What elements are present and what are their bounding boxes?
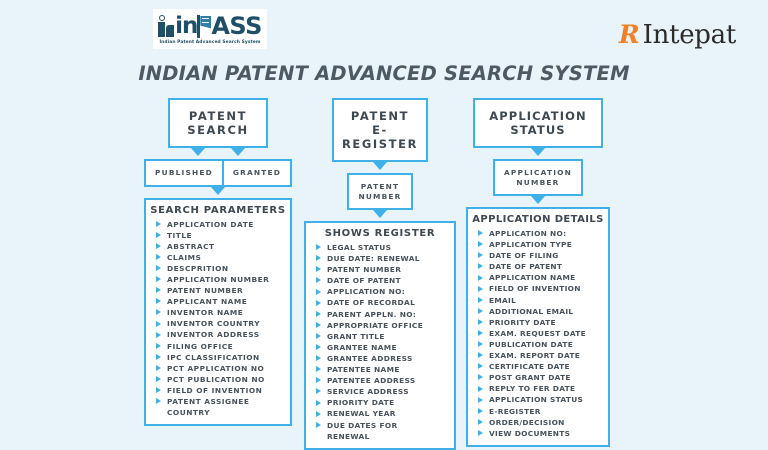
list-item[interactable]: ABSTRACT	[150, 241, 286, 252]
list-item[interactable]: E-REGISTER	[472, 406, 604, 417]
list-item-label: ABSTRACT	[167, 241, 215, 252]
triangle-bullet-icon	[156, 309, 161, 315]
list-item[interactable]: PRIORITY DATE	[472, 317, 604, 328]
list-item-label: ADDITIONAL EMAIL	[489, 306, 573, 317]
list-item[interactable]: RENEWAL YEAR	[310, 408, 450, 419]
list-item[interactable]: ORDER/DECISION	[472, 417, 604, 428]
list-item[interactable]: DESCPRITION	[150, 263, 286, 274]
list-item[interactable]: LEGAL STATUS	[310, 242, 450, 253]
triangle-bullet-icon	[316, 289, 321, 295]
list-item-label: PRIORITY DATE	[327, 397, 394, 408]
arrow-down-icon	[231, 148, 245, 156]
list-item[interactable]: IPC CLASSIFICATION	[150, 352, 286, 363]
list-item-label: FIELD OF INVENTION	[167, 385, 262, 396]
triangle-bullet-icon	[478, 419, 483, 425]
list-item[interactable]: SERVICE ADDRESS	[310, 386, 450, 397]
list-item-label: EXAM. REPORT DATE	[489, 350, 580, 361]
list-item[interactable]: REPLY TO FER DATE	[472, 383, 604, 394]
list-item[interactable]: DATE OF PATENT	[310, 275, 450, 286]
list-item-label: DATE OF PATENT	[327, 275, 401, 286]
list-item-label: FIELD OF INVENTION	[489, 283, 581, 294]
list-item[interactable]: EMAIL	[472, 295, 604, 306]
list-item-label: DUE DATES FOR RENEWAL	[327, 420, 398, 442]
panel-patent-search: SEARCH PARAMETERSAPPLICATION DATETITLEAB…	[144, 198, 292, 427]
list-item-label: DATE OF FILING	[489, 250, 559, 261]
arrow-row-application-status	[466, 148, 610, 156]
list-item[interactable]: DUE DATES FOR RENEWAL	[310, 420, 450, 442]
list-item-label: E-REGISTER	[489, 406, 541, 417]
list-item[interactable]: DATE OF RECORDAL	[310, 297, 450, 308]
triangle-bullet-icon	[316, 377, 321, 383]
inpass-tagline: Indian Patent Advanced Search System	[159, 40, 260, 45]
list-item-label: APPLICATION TYPE	[489, 239, 572, 250]
list-item-label: INVENTOR COUNTRY	[167, 318, 260, 329]
triangle-bullet-icon	[156, 321, 161, 327]
list-item-label: CERTIFICATE DATE	[489, 361, 570, 372]
list-item[interactable]: PATENT ASSIGNEE COUNTRY	[150, 396, 286, 418]
list-item-label: SERVICE ADDRESS	[327, 386, 409, 397]
list-item[interactable]: APPLICATION NO:	[472, 228, 604, 239]
list-item[interactable]: APPLICATION NO:	[310, 286, 450, 297]
list-item-label: DATE OF PATENT	[489, 261, 562, 272]
list-item[interactable]: FIELD OF INVENTION	[150, 385, 286, 396]
list-item[interactable]: INVENTOR COUNTRY	[150, 318, 286, 329]
triangle-bullet-icon	[316, 266, 321, 272]
list-item-label: INVENTOR NAME	[167, 307, 243, 318]
panel-patent-e-register: SHOWS REGISTERLEGAL STATUSDUE DATE: RENE…	[304, 221, 456, 450]
triangle-bullet-icon	[316, 366, 321, 372]
list-item-label: DUE DATE: RENEWAL	[327, 253, 420, 264]
mid-row-patent-search: PUBLISHEDGRANTED	[144, 159, 292, 187]
list-item[interactable]: DUE DATE: RENEWAL	[310, 253, 450, 264]
mid-box-published[interactable]: PUBLISHED	[144, 159, 223, 187]
triangle-bullet-icon	[156, 365, 161, 371]
arrow-down-icon	[211, 187, 225, 195]
triangle-bullet-icon	[478, 408, 483, 414]
inpass-wordmark: in ASS	[158, 14, 262, 38]
triangle-bullet-icon	[156, 254, 161, 260]
list-item-label: INVENTOR ADDRESS	[167, 329, 260, 340]
panel-list: LEGAL STATUSDUE DATE: RENEWALPATENT NUMB…	[310, 242, 450, 442]
mid-row-patent-e-register: PATENT NUMBER	[304, 173, 456, 210]
triangle-bullet-icon	[478, 341, 483, 347]
column-patent-search: PATENT SEARCHPUBLISHEDGRANTEDSEARCH PARA…	[144, 98, 292, 426]
list-item[interactable]: TITLE	[150, 230, 286, 241]
list-item-label: APPROPRIATE OFFICE	[327, 320, 423, 331]
list-item[interactable]: APPLICATION NAME	[472, 272, 604, 283]
triangle-bullet-icon	[478, 330, 483, 336]
triangle-bullet-icon	[316, 411, 321, 417]
inpass-logo: in ASS Indian Patent Advanced Search Sys…	[153, 9, 267, 49]
triangle-bullet-icon	[478, 397, 483, 403]
list-item-label: DESCPRITION	[167, 263, 229, 274]
intepat-logo-name: Intepat	[643, 22, 736, 48]
triangle-bullet-icon	[478, 263, 483, 269]
list-item[interactable]: APPLICANT NAME	[150, 296, 286, 307]
list-item-label: PATENT NUMBER	[167, 285, 243, 296]
arrow-down-icon	[373, 210, 387, 218]
list-item-label: DATE OF RECORDAL	[327, 297, 415, 308]
triangle-bullet-icon	[478, 230, 483, 236]
list-item-label: CLAIMS	[167, 252, 201, 263]
triangle-bullet-icon	[478, 252, 483, 258]
list-item[interactable]: APPLICATION TYPE	[472, 239, 604, 250]
panel-application-status: APPLICATION DETAILSAPPLICATION NO:APPLIC…	[466, 207, 610, 447]
list-item[interactable]: DATE OF FILING	[472, 250, 604, 261]
triangle-bullet-icon	[478, 386, 483, 392]
list-item-label: FILING OFFICE	[167, 341, 233, 352]
list-item-label: APPLICATION STATUS	[489, 394, 583, 405]
panel-title: SHOWS REGISTER	[310, 228, 450, 239]
triangle-bullet-icon	[156, 376, 161, 382]
list-item-label: PCT APPLICATION NO	[167, 363, 264, 374]
triangle-bullet-icon	[156, 243, 161, 249]
list-item-label: EMAIL	[489, 295, 516, 306]
triangle-bullet-icon	[478, 430, 483, 436]
list-item-label: PUBLICATION DATE	[489, 339, 573, 350]
triangle-bullet-icon	[156, 354, 161, 360]
triangle-bullet-icon	[316, 244, 321, 250]
list-item[interactable]: PATENT NUMBER	[310, 264, 450, 275]
list-item[interactable]: CLAIMS	[150, 252, 286, 263]
list-item[interactable]: POST GRANT DATE	[472, 372, 604, 383]
triangle-bullet-icon	[316, 422, 321, 428]
list-item-label: APPLICANT NAME	[167, 296, 247, 307]
arrow-down-icon	[373, 162, 387, 170]
list-item-label: GRANTEE NAME	[327, 342, 397, 353]
list-item-label: PATENTEE ADDRESS	[327, 375, 416, 386]
inpass-logo-ass: ASS	[211, 14, 262, 38]
list-item[interactable]: APPLICATION STATUS	[472, 394, 604, 405]
triangle-bullet-icon	[478, 275, 483, 281]
mid-box-application-number[interactable]: APPLICATION NUMBER	[493, 159, 583, 196]
page-header: in ASS Indian Patent Advanced Search Sys…	[0, 0, 768, 58]
list-item-label: GRANT TITLE	[327, 331, 385, 342]
list-item-label: APPLICATION NAME	[489, 272, 576, 283]
list-item[interactable]: PARENT APPLN. NO:	[310, 309, 450, 320]
list-item[interactable]: PATENTEE ADDRESS	[310, 375, 450, 386]
inpass-person-icon	[158, 15, 175, 37]
top-box-patent-e-register[interactable]: PATENT E-REGISTER	[332, 98, 428, 162]
triangle-bullet-icon	[156, 287, 161, 293]
column-patent-e-register: PATENT E-REGISTERPATENT NUMBERSHOWS REGI…	[304, 98, 456, 450]
list-item[interactable]: VIEW DOCUMENTS	[472, 428, 604, 439]
list-item[interactable]: FILING OFFICE	[150, 341, 286, 352]
top-box-patent-search[interactable]: PATENT SEARCH	[168, 98, 268, 148]
triangle-bullet-icon	[156, 221, 161, 227]
top-box-application-status[interactable]: APPLICATION STATUS	[473, 98, 603, 148]
intepat-logo: R Intepat	[619, 22, 736, 48]
arrow-down-icon	[191, 148, 205, 156]
list-item[interactable]: PCT APPLICATION NO	[150, 363, 286, 374]
list-item[interactable]: DATE OF PATENT	[472, 261, 604, 272]
list-item[interactable]: PRIORITY DATE	[310, 397, 450, 408]
list-item[interactable]: GRANTEE ADDRESS	[310, 353, 450, 364]
triangle-bullet-icon	[156, 332, 161, 338]
flag-icon	[197, 15, 211, 38]
list-item[interactable]: INVENTOR ADDRESS	[150, 329, 286, 340]
triangle-bullet-icon	[316, 255, 321, 261]
list-item[interactable]: EXAM. REPORT DATE	[472, 350, 604, 361]
triangle-bullet-icon	[316, 300, 321, 306]
triangle-bullet-icon	[478, 363, 483, 369]
triangle-bullet-icon	[478, 286, 483, 292]
triangle-bullet-icon	[478, 374, 483, 380]
list-item-label: VIEW DOCUMENTS	[489, 428, 570, 439]
triangle-bullet-icon	[156, 398, 161, 404]
list-item-label: APPLICATION NO:	[489, 228, 566, 239]
list-item-label: RENEWAL YEAR	[327, 408, 396, 419]
list-item-label: TITLE	[167, 230, 192, 241]
list-item-label: APPLICATION NUMBER	[167, 274, 269, 285]
list-item-label: EXAM. REQUEST DATE	[489, 328, 586, 339]
list-item-label: ORDER/DECISION	[489, 417, 565, 428]
column-application-status: APPLICATION STATUSAPPLICATION NUMBERAPPL…	[466, 98, 610, 447]
mid-box-granted[interactable]: GRANTED	[223, 159, 292, 187]
list-item-label: PATENT ASSIGNEE COUNTRY	[167, 396, 249, 418]
intepat-r-icon: R	[619, 22, 640, 47]
triangle-bullet-icon	[316, 344, 321, 350]
arrow-row-patent-e-register	[304, 162, 456, 170]
list-item[interactable]: APPROPRIATE OFFICE	[310, 320, 450, 331]
list-item-label: PCT PUBLICATION NO	[167, 374, 265, 385]
inpass-logo-in: in	[175, 15, 197, 38]
triangle-bullet-icon	[478, 352, 483, 358]
list-item-label: PATENTEE NAME	[327, 364, 400, 375]
triangle-bullet-icon	[156, 265, 161, 271]
list-item-label: PARENT APPLN. NO:	[327, 309, 416, 320]
list-item[interactable]: GRANT TITLE	[310, 331, 450, 342]
triangle-bullet-icon	[156, 343, 161, 349]
panel-list: APPLICATION DATETITLEABSTRACTCLAIMSDESCP…	[150, 219, 286, 419]
panel-title: APPLICATION DETAILS	[472, 214, 604, 225]
arrow-down-icon	[531, 196, 545, 204]
list-item[interactable]: FIELD OF INVENTION	[472, 283, 604, 294]
triangle-bullet-icon	[316, 400, 321, 406]
list-item-label: APPLICATION NO:	[327, 286, 405, 297]
list-item-label: PATENT NUMBER	[327, 264, 401, 275]
mid-row-application-status: APPLICATION NUMBER	[466, 159, 610, 196]
arrow-down-icon	[531, 148, 545, 156]
list-item-label: APPLICATION DATE	[167, 219, 254, 230]
list-item[interactable]: PUBLICATION DATE	[472, 339, 604, 350]
list-item[interactable]: PCT PUBLICATION NO	[150, 374, 286, 385]
panel-list: APPLICATION NO:APPLICATION TYPEDATE OF F…	[472, 228, 604, 439]
list-item[interactable]: INVENTOR NAME	[150, 307, 286, 318]
triangle-bullet-icon	[316, 277, 321, 283]
triangle-bullet-icon	[316, 322, 321, 328]
list-item[interactable]: EXAM. REQUEST DATE	[472, 328, 604, 339]
list-item[interactable]: GRANTEE NAME	[310, 342, 450, 353]
triangle-bullet-icon	[478, 241, 483, 247]
list-item[interactable]: APPLICATION NUMBER	[150, 274, 286, 285]
panel-title: SEARCH PARAMETERS	[150, 205, 286, 216]
list-item[interactable]: ADDITIONAL EMAIL	[472, 306, 604, 317]
triangle-bullet-icon	[156, 387, 161, 393]
list-item[interactable]: CERTIFICATE DATE	[472, 361, 604, 372]
list-item-label: POST GRANT DATE	[489, 372, 571, 383]
triangle-bullet-icon	[156, 298, 161, 304]
arrow-row-patent-search	[144, 148, 292, 156]
triangle-bullet-icon	[316, 333, 321, 339]
triangle-bullet-icon	[478, 319, 483, 325]
triangle-bullet-icon	[478, 297, 483, 303]
list-item-label: REPLY TO FER DATE	[489, 383, 575, 394]
triangle-bullet-icon	[316, 388, 321, 394]
list-item[interactable]: PATENTEE NAME	[310, 364, 450, 375]
flowchart: PATENT SEARCHPUBLISHEDGRANTEDSEARCH PARA…	[0, 98, 768, 432]
page-title: INDIAN PATENT ADVANCED SEARCH SYSTEM	[0, 62, 768, 85]
triangle-bullet-icon	[316, 355, 321, 361]
list-item-label: IPC CLASSIFICATION	[167, 352, 260, 363]
list-item-label: GRANTEE ADDRESS	[327, 353, 413, 364]
triangle-bullet-icon	[156, 276, 161, 282]
list-item[interactable]: APPLICATION DATE	[150, 219, 286, 230]
triangle-bullet-icon	[478, 308, 483, 314]
triangle-bullet-icon	[156, 232, 161, 238]
triangle-bullet-icon	[316, 311, 321, 317]
list-item[interactable]: PATENT NUMBER	[150, 285, 286, 296]
list-item-label: LEGAL STATUS	[327, 242, 391, 253]
list-item-label: PRIORITY DATE	[489, 317, 556, 328]
mid-box-patent-number[interactable]: PATENT NUMBER	[347, 173, 412, 210]
